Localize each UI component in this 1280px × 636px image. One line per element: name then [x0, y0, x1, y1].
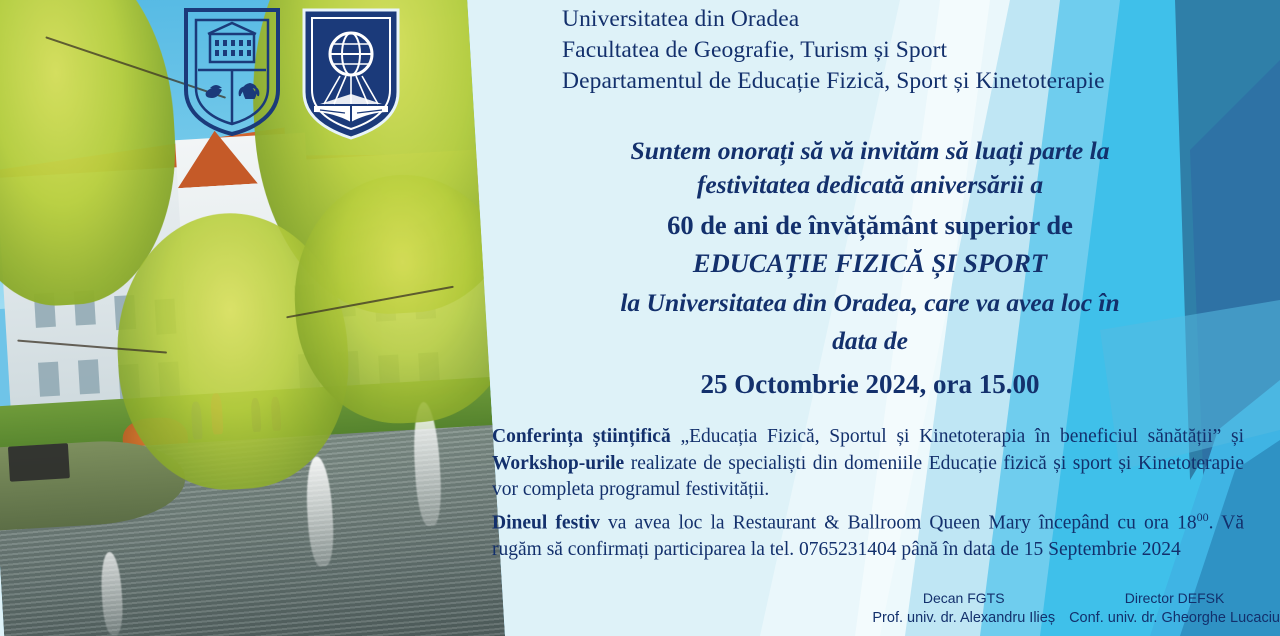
body-text-block: Conferința științifică „Educația Fizică,… [492, 424, 1244, 563]
dinner-hour-superscript: 00 [1197, 510, 1209, 524]
discipline-headline: EDUCAȚIE FIZICĂ ȘI SPORT [500, 244, 1240, 282]
invitation-italic-line-3: la Universitatea din Oradea, care va ave… [500, 286, 1240, 320]
body-paragraph-2: Dineul festiv va avea loc la Restaurant … [492, 504, 1244, 564]
workshop-label: Workshop-urile [492, 453, 624, 474]
body-paragraph-1: Conferința științifică „Educația Fizică,… [492, 424, 1244, 504]
signature-block: Decan FGTS Prof. univ. dr. Alexandru Ili… [720, 588, 1280, 628]
signature-director-name: Conf. univ. dr. Gheorghe Lucaciu [1069, 608, 1280, 628]
photo-bench [8, 444, 70, 482]
faculty-geography-emblem-icon [300, 6, 402, 142]
invitation-block: Suntem onorați să vă invităm să luați pa… [500, 134, 1240, 404]
university-of-oradea-crest-icon [180, 6, 284, 138]
event-date-time: 25 Octombrie 2024, ora 15.00 [500, 364, 1240, 404]
header-line-2: Facultatea de Geografie, Turism și Sport [562, 35, 1262, 66]
body-p1-text-1: „Educația Fizică, Sportul și Kinetoterap… [671, 426, 1244, 447]
body-p2-text-1: va avea loc la Restaurant & Ballroom Que… [600, 512, 1197, 533]
signature-dean-title: Decan FGTS [872, 588, 1055, 608]
header-block: Universitatea din Oradea Facultatea de G… [562, 4, 1262, 97]
signature-director: Director DEFSK Conf. univ. dr. Gheorghe … [1069, 588, 1280, 628]
signature-director-title: Director DEFSK [1069, 588, 1280, 608]
conference-label: Conferința științifică [492, 426, 671, 447]
signature-dean: Decan FGTS Prof. univ. dr. Alexandru Ili… [872, 588, 1055, 628]
signature-dean-name: Prof. univ. dr. Alexandru Ilieș [872, 608, 1055, 628]
header-line-3: Departamentul de Educație Fizică, Sport … [562, 66, 1262, 97]
invitation-italic-line-4: data de [500, 324, 1240, 358]
dinner-label: Dineul festiv [492, 512, 600, 533]
invitation-poster: Universitatea din Oradea Facultatea de G… [0, 0, 1280, 636]
anniversary-headline: 60 de ani de învățământ superior de [500, 206, 1240, 244]
invitation-italic-line-2: festivitatea dedicată aniversării a [500, 168, 1240, 202]
invitation-italic-line-1: Suntem onorați să vă invităm să luați pa… [500, 134, 1240, 168]
header-line-1: Universitatea din Oradea [562, 4, 1262, 35]
